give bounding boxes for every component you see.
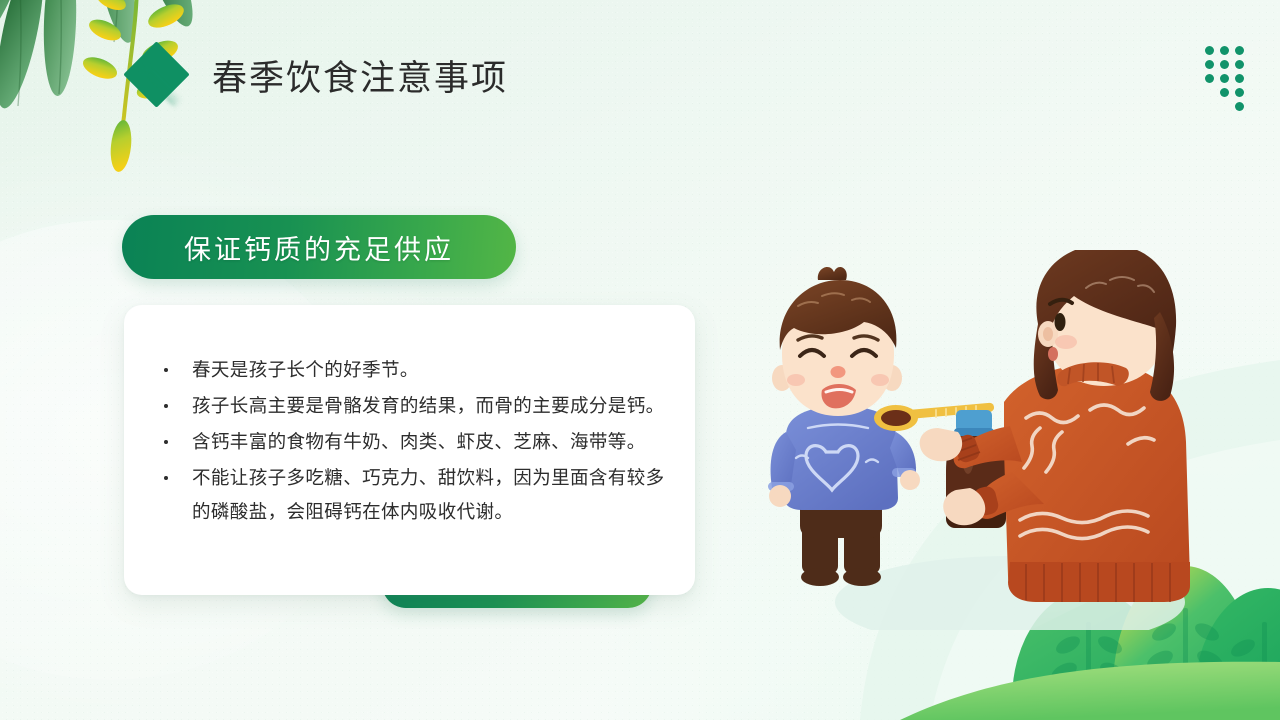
list-item: 含钙丰富的食物有牛奶、肉类、虾皮、芝麻、海带等。	[146, 425, 665, 459]
dot-grid-icon	[1205, 46, 1244, 111]
page-title: 春季饮食注意事项	[212, 50, 508, 101]
section-heading-label: 保证钙质的充足供应	[184, 228, 454, 267]
dot	[1235, 46, 1244, 55]
dot	[1235, 74, 1244, 83]
dot	[1205, 74, 1214, 83]
list-item: 不能让孩子多吃糖、巧克力、甜饮料，因为里面含有较多的磷酸盐，会阻碍钙在体内吸收代…	[146, 461, 665, 529]
dot	[1220, 88, 1229, 97]
dot	[1235, 88, 1244, 97]
section-heading-banner[interactable]: 保证钙质的充足供应	[122, 215, 516, 279]
illustration-svg	[760, 250, 1220, 630]
dot	[1205, 46, 1214, 55]
dot	[1220, 46, 1229, 55]
bullet-list: 春天是孩子长个的好季节。 孩子长高主要是骨骼发育的结果，而骨的主要成分是钙。 含…	[146, 353, 665, 529]
slide-header: 春季饮食注意事项	[124, 42, 508, 108]
dot-empty	[1205, 88, 1214, 97]
slide-canvas: 春季饮食注意事项 保证钙质的充足供应 春天是孩子长个的好季节。 孩子长高主要是骨…	[0, 0, 1280, 720]
dot-empty	[1205, 102, 1214, 111]
dot	[1235, 102, 1244, 111]
list-item: 孩子长高主要是骨骼发育的结果，而骨的主要成分是钙。	[146, 389, 665, 423]
dot	[1220, 60, 1229, 69]
dot	[1220, 74, 1229, 83]
mother-feeding-child-illustration	[760, 250, 1220, 630]
dot	[1205, 60, 1214, 69]
list-item: 春天是孩子长个的好季节。	[146, 353, 665, 387]
content-card: 春天是孩子长个的好季节。 孩子长高主要是骨骼发育的结果，而骨的主要成分是钙。 含…	[124, 305, 695, 595]
hill-foreground	[900, 662, 1280, 720]
diamond-icon	[124, 42, 190, 108]
dot	[1235, 60, 1244, 69]
dot-empty	[1220, 102, 1229, 111]
